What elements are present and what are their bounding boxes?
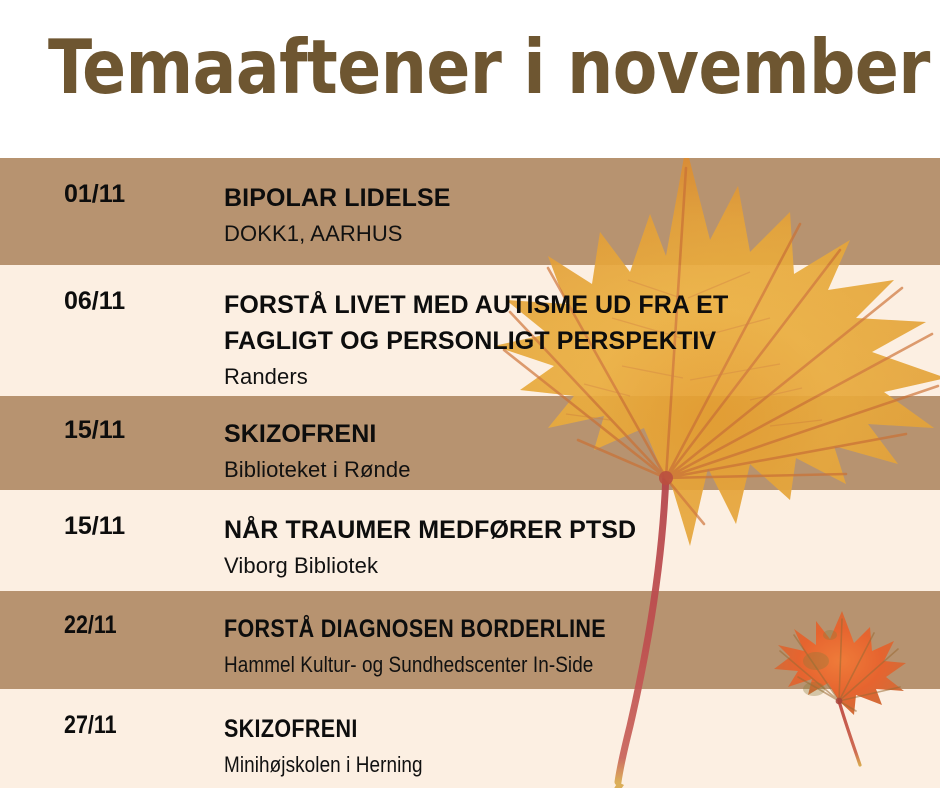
schedule-row-stripe — [0, 591, 940, 689]
page-title: Temaaftener i november — [48, 26, 930, 108]
schedule-row-stripe — [0, 158, 940, 265]
title-band: Temaaftener i november — [0, 0, 940, 158]
schedule-row-stripe — [0, 265, 940, 396]
schedule-row-stripe — [0, 689, 940, 788]
poster-canvas: Temaaftener i november 01/11BIPOLAR LIDE… — [0, 0, 940, 788]
schedule-row-stripe — [0, 396, 940, 490]
schedule-row-stripe — [0, 490, 940, 591]
